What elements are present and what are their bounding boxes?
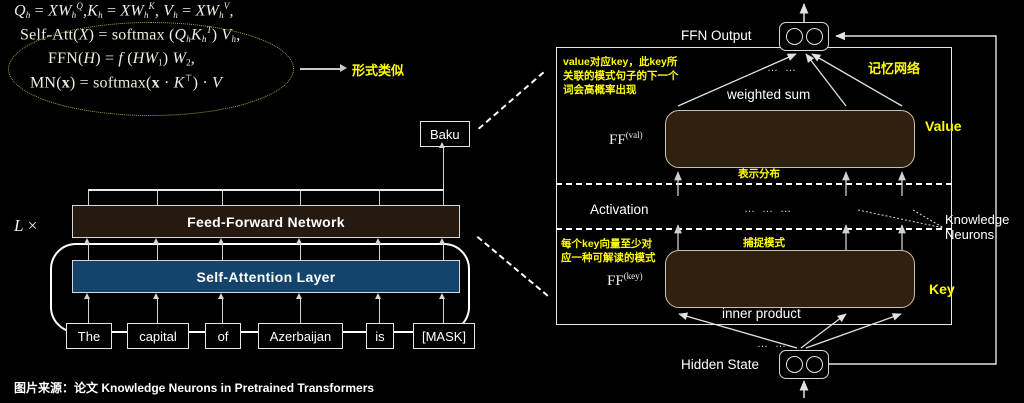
ellipsis-top: … … (767, 62, 798, 74)
zoom-connector-bottom (477, 236, 549, 297)
ellipsis-activation: … … … (744, 203, 793, 215)
ffn-output-box (779, 22, 829, 51)
separator-upper (556, 183, 952, 185)
formula-block: Qh = XWhQ,Kh = XWhK, Vh = XWhV, Self-Att… (14, 2, 344, 92)
similarity-arrow-head (340, 64, 347, 72)
ffn-output-label: FFN Output (681, 28, 752, 43)
knowledge-neurons-label: Knowledge Neurons (945, 213, 1009, 243)
token-mask: [MASK] (413, 323, 475, 349)
inner-product-label: inner product (722, 306, 801, 321)
formula-line-3: FFN(H) = f (HW1) W2, (14, 51, 344, 68)
source-footer: 图片来源：论文 Knowledge Neurons in Pretrained … (14, 379, 374, 396)
figure-canvas: Qh = XWhQ,Kh = XWhK, Vh = XWhV, Self-Att… (0, 0, 1024, 403)
ff-value-symbol: FF(val) (609, 130, 643, 149)
token-of: of (205, 323, 241, 349)
hidden-state-neuron-2 (806, 356, 823, 373)
value-note: value对应key，此key所 关联的模式句子的下一个 词会高概率出现 (563, 56, 679, 98)
ellipsis-hidden: … … (757, 338, 788, 350)
hidden-state-label: Hidden State (681, 357, 759, 372)
similarity-arrow-line (300, 68, 342, 70)
token-capital: capital (127, 323, 189, 349)
ffn-output-neuron-2 (806, 28, 823, 45)
key-neuron-pill (665, 250, 915, 308)
value-side-label: Value (925, 118, 962, 134)
value-neuron-pill (665, 110, 915, 168)
distribution-label: 表示分布 (738, 168, 780, 182)
activation-label: Activation (590, 202, 649, 217)
layer-repeat-label: L × (14, 216, 37, 236)
ff-key-symbol: FF(key) (607, 271, 643, 290)
separator-lower (556, 228, 952, 230)
self-attention-layer-bar[interactable]: Self-Attention Layer (72, 260, 460, 293)
memory-network-title: 记忆网络 (868, 58, 920, 77)
formula-line-2: Self-Att(X) = softmax (QhKhT) Vh, (14, 26, 344, 44)
hidden-state-box (779, 350, 829, 379)
token-the: The (66, 323, 112, 349)
token-is: is (366, 323, 394, 349)
hidden-state-neuron-1 (786, 356, 803, 373)
formula-line-4: MN(x) = softmax(x · K⊤) · V (14, 74, 344, 91)
zoom-connector-top (478, 72, 544, 130)
pattern-label: 捕捉模式 (743, 237, 785, 251)
weighted-sum-label: weighted sum (727, 87, 810, 102)
key-note: 每个key向量至少对 应一种可解读的模式 (561, 238, 656, 266)
similarity-annotation: 形式类似 (352, 60, 404, 79)
token-azerbaijan: Azerbaijan (258, 323, 343, 349)
formula-line-1: Qh = XWhQ,Kh = XWhK, Vh = XWhV, (14, 2, 344, 20)
feed-forward-network-bar[interactable]: Feed-Forward Network (72, 205, 460, 238)
ffn-output-neuron-1 (786, 28, 803, 45)
key-side-label: Key (929, 281, 955, 297)
